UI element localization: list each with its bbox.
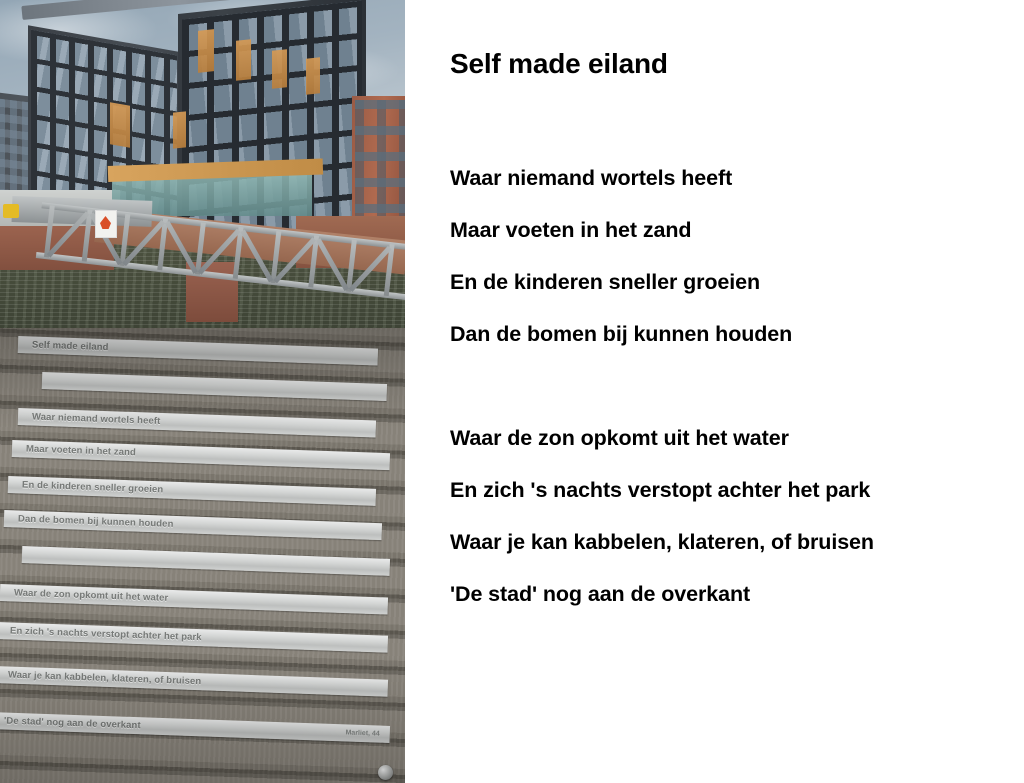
poem-line: En zich 's nachts verstopt achter het pa… [450, 464, 1010, 516]
poem-line: 'De stad' nog aan de overkant [450, 568, 1010, 620]
bench-strip-text: Waar niemand wortels heeft [18, 411, 161, 427]
slide-root: Self made eiland Waar niemand wortels he… [0, 0, 1024, 783]
poem-stanza-2: Waar de zon opkomt uit het water En zich… [450, 412, 1010, 620]
construction-machine [3, 204, 19, 218]
poem-line: Waar de zon opkomt uit het water [450, 412, 1010, 464]
poem-text-panel: Self made eiland Waar niemand wortels he… [405, 0, 1024, 783]
wood-panel-accent-2 [236, 39, 251, 81]
bridge-banner [95, 210, 117, 238]
truss-diagonal [316, 238, 349, 291]
poem-line: Waar niemand wortels heeft [450, 152, 1010, 204]
page-title: Self made eiland [450, 48, 668, 80]
wood-panel-accent-3 [272, 49, 287, 89]
photo-bench: Self made eiland Waar niemand wortels he… [0, 328, 405, 783]
photo-collage: Self made eiland Waar niemand wortels he… [0, 0, 405, 783]
wood-panel-accent-4 [306, 57, 320, 94]
poem-line: Dan de bomen bij kunnen houden [450, 308, 1010, 360]
bench-strip-text: En de kinderen sneller groeien [8, 479, 164, 495]
poem-stanza-1: Waar niemand wortels heeft Maar voeten i… [450, 152, 1010, 360]
wood-panel-accent-1 [198, 29, 214, 73]
bench-strip-text: Maar voeten in het zand [12, 443, 136, 458]
truss-diagonal [165, 221, 198, 274]
bench-strip-text: 'De stad' nog aan de overkant [0, 715, 141, 731]
bench-strip-text: Waar de zon opkomt uit het water [0, 587, 168, 604]
bench-bolt-icon [378, 765, 393, 780]
poem-line: Maar voeten in het zand [450, 204, 1010, 256]
bench-strip-text: Self made eiland [18, 339, 109, 353]
poem-line: Waar je kan kabbelen, klateren, of bruis… [450, 516, 1010, 568]
photo-building-bridge [0, 0, 405, 330]
poem-line: En de kinderen sneller groeien [450, 256, 1010, 308]
bench-signature: Marliet, 44 [345, 729, 389, 738]
wood-panel-accent-6 [173, 111, 186, 148]
bench-strip-text: Dan de bomen bij kunnen houden [4, 513, 174, 530]
wood-panel-accent-5 [110, 102, 130, 148]
truss-diagonal [240, 230, 273, 283]
